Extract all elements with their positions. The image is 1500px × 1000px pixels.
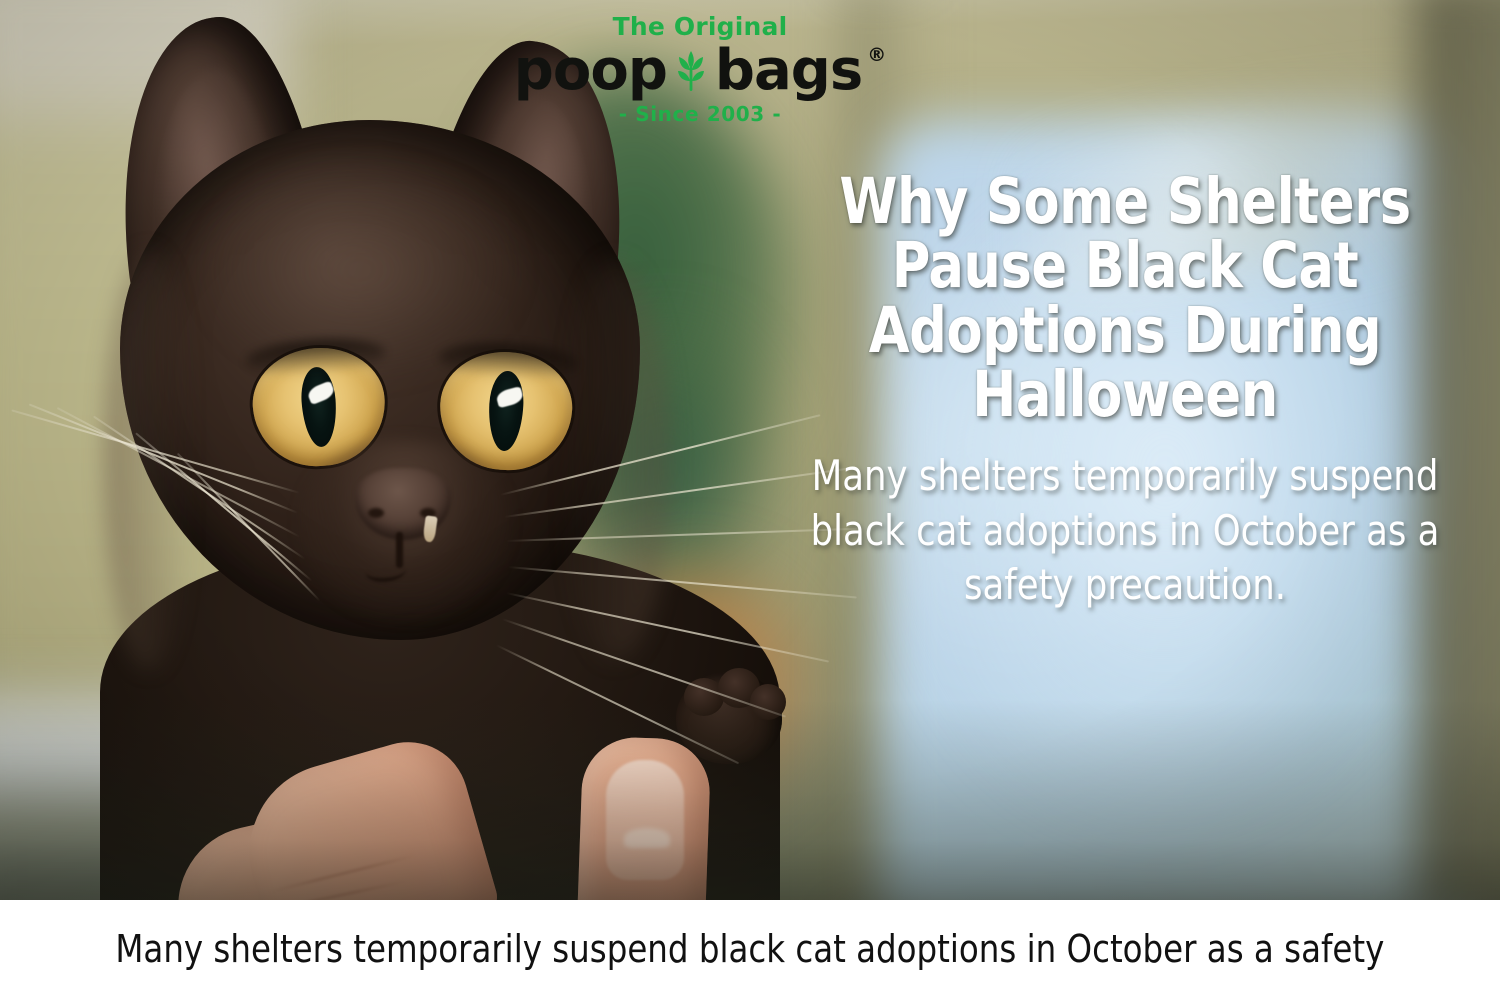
kitten-nostril-left <box>368 508 384 518</box>
kitten-fur-edge-right <box>560 260 670 660</box>
caption-text: Many shelters temporarily suspend black … <box>116 929 1385 971</box>
page-title: Why Some Shelters Pause Black Cat Adopti… <box>813 170 1436 427</box>
logo-word-poop: poop <box>514 43 667 99</box>
poster-canvas: The Original poop bags ® - Since 2003 - … <box>0 0 1500 1000</box>
caption-bar: Many shelters temporarily suspend black … <box>0 900 1500 1000</box>
overlay-text-block: Why Some Shelters Pause Black Cat Adopti… <box>790 170 1460 613</box>
leaf-sprout-icon <box>671 49 711 93</box>
logo-tagline-top: The Original <box>500 14 900 39</box>
registered-trademark-icon: ® <box>867 44 886 66</box>
photo-bottom-shade <box>0 700 1500 900</box>
logo-wordmark: poop bags ® <box>500 42 900 100</box>
page-subtitle: Many shelters temporarily suspend black … <box>810 449 1440 613</box>
logo-tagline-bottom: - Since 2003 - <box>500 104 900 124</box>
brand-logo[interactable]: The Original poop bags ® - Since 2003 - <box>500 14 900 136</box>
logo-word-bags: bags <box>715 43 862 99</box>
